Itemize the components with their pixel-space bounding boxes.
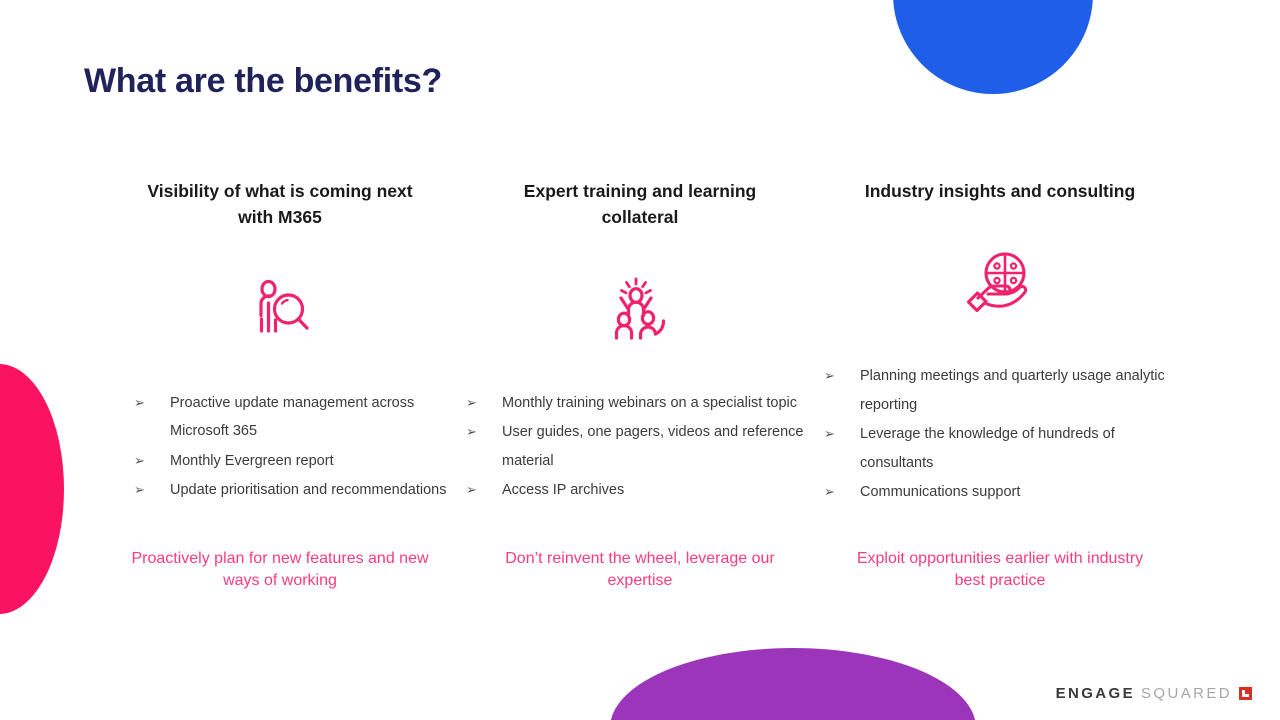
arrow-bullet-icon: ➢ bbox=[134, 389, 170, 418]
list-item-text: Planning meetings and quarterly usage an… bbox=[860, 362, 1174, 419]
list-item-text: Update prioritisation and recommendation… bbox=[170, 476, 454, 505]
list-item: ➢ Leverage the knowledge of hundreds of … bbox=[824, 420, 1174, 477]
benefits-columns: Visibility of what is coming next with M… bbox=[100, 178, 1180, 593]
list-item-text: Proactive update management across Micro… bbox=[170, 389, 454, 446]
benefit-column-3: Industry insights and consulting bbox=[820, 178, 1180, 593]
logo-square-mark-icon bbox=[1239, 687, 1252, 700]
arrow-bullet-icon: ➢ bbox=[466, 418, 502, 447]
slide-canvas: What are the benefits? Visibility of wha… bbox=[0, 0, 1280, 720]
person-with-magnifier-icon bbox=[245, 275, 315, 347]
list-item: ➢ Communications support bbox=[824, 478, 1174, 507]
hand-holding-puzzle-sphere-icon bbox=[964, 248, 1036, 320]
column-heading: Visibility of what is coming next with M… bbox=[130, 178, 430, 231]
logo-primary-text: ENGAGE bbox=[1056, 685, 1135, 702]
list-item-text: Access IP archives bbox=[502, 476, 814, 505]
list-item: ➢ Proactive update management across Mic… bbox=[134, 389, 454, 446]
benefit-column-1: Visibility of what is coming next with M… bbox=[100, 178, 460, 593]
decorative-pink-shape bbox=[0, 364, 64, 614]
list-item: ➢ User guides, one pagers, videos and re… bbox=[466, 418, 814, 475]
list-item-text: Leverage the knowledge of hundreds of co… bbox=[860, 420, 1174, 477]
list-item: ➢ Update prioritisation and recommendati… bbox=[134, 476, 454, 505]
column-summary: Proactively plan for new features and ne… bbox=[120, 508, 440, 593]
list-item: ➢ Monthly training webinars on a special… bbox=[466, 389, 814, 418]
arrow-bullet-icon: ➢ bbox=[134, 476, 170, 505]
column-heading: Industry insights and consulting bbox=[850, 178, 1150, 204]
column-summary: Exploit opportunities earlier with indus… bbox=[840, 508, 1160, 593]
benefit-bullet-list: ➢ Planning meetings and quarterly usage … bbox=[820, 362, 1180, 508]
arrow-bullet-icon: ➢ bbox=[466, 389, 502, 418]
arrow-bullet-icon: ➢ bbox=[824, 420, 860, 449]
arrow-bullet-icon: ➢ bbox=[134, 447, 170, 476]
benefit-column-2: Expert training and learning collateral bbox=[460, 178, 820, 593]
column-heading: Expert training and learning collateral bbox=[490, 178, 790, 231]
benefit-bullet-list: ➢ Monthly training webinars on a special… bbox=[460, 389, 820, 506]
list-item-text: Monthly Evergreen report bbox=[170, 447, 454, 476]
engage-squared-logo: ENGAGE SQUARED bbox=[1056, 685, 1252, 702]
list-item-text: Communications support bbox=[860, 478, 1174, 507]
arrow-bullet-icon: ➢ bbox=[824, 478, 860, 507]
list-item-text: Monthly training webinars on a specialis… bbox=[502, 389, 814, 418]
column-summary: Don’t reinvent the wheel, leverage our e… bbox=[480, 508, 800, 593]
decorative-purple-shape bbox=[610, 648, 976, 720]
list-item-text: User guides, one pagers, videos and refe… bbox=[502, 418, 814, 475]
arrow-bullet-icon: ➢ bbox=[466, 476, 502, 505]
list-item: ➢ Access IP archives bbox=[466, 476, 814, 505]
list-item: ➢ Monthly Evergreen report bbox=[134, 447, 454, 476]
decorative-blue-circle bbox=[893, 0, 1093, 94]
page-title: What are the benefits? bbox=[84, 62, 442, 101]
list-item: ➢ Planning meetings and quarterly usage … bbox=[824, 362, 1174, 419]
benefit-bullet-list: ➢ Proactive update management across Mic… bbox=[100, 389, 460, 506]
people-celebrating-icon bbox=[609, 275, 671, 347]
arrow-bullet-icon: ➢ bbox=[824, 362, 860, 391]
logo-secondary-text: SQUARED bbox=[1141, 685, 1232, 702]
